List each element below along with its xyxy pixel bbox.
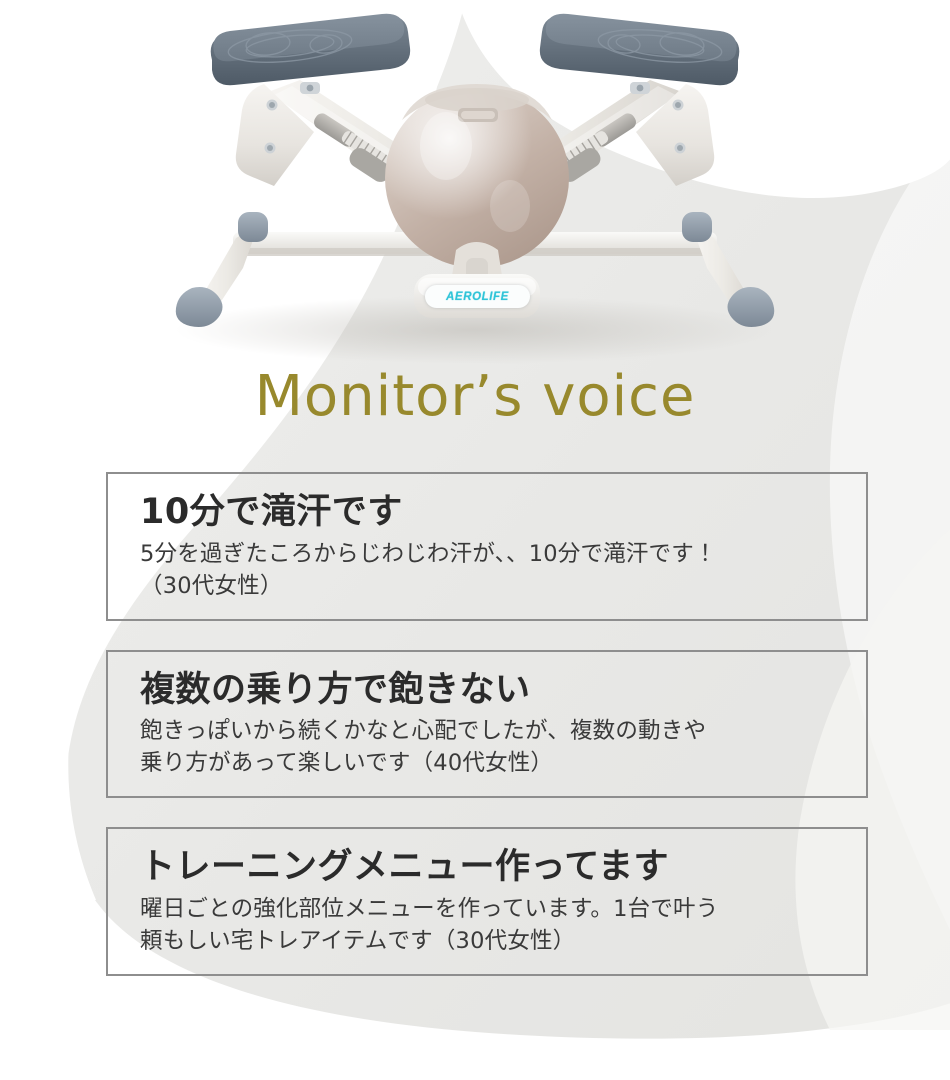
testimonial-line: 頼もしい宅トレアイテムです（30代女性） bbox=[140, 926, 838, 958]
testimonial-title: 複数の乗り方で飽きない bbox=[140, 668, 838, 713]
testimonial-line: 曜日ごとの強化部位メニューを作っています。1台で叶う bbox=[140, 894, 838, 926]
testimonial-body: 飽きっぽいから続くかなと心配でしたが、複数の動きや 乗り方があって楽しいです（4… bbox=[140, 716, 838, 780]
testimonial-line: 5分を過ぎたころからじわじわ汗が、、10分で滝汗です！ bbox=[140, 539, 838, 571]
testimonial-card-2: 複数の乗り方で飽きない 飽きっぽいから続くかなと心配でしたが、複数の動きや 乗り… bbox=[106, 650, 868, 799]
page-title: Monitor’s voice bbox=[255, 368, 696, 427]
testimonial-title: 10分で滝汗です bbox=[140, 490, 838, 535]
testimonial-line: （30代女性） bbox=[140, 571, 838, 603]
aerolife-brand-badge: AEROLIFE bbox=[425, 285, 530, 308]
testimonial-line: 飽きっぽいから続くかなと心配でしたが、複数の動きや bbox=[140, 716, 838, 748]
testimonial-list: 10分で滝汗です 5分を過ぎたころからじわじわ汗が、、10分で滝汗です！ （30… bbox=[106, 472, 868, 976]
testimonial-body: 5分を過ぎたころからじわじわ汗が、、10分で滝汗です！ （30代女性） bbox=[140, 539, 838, 603]
section-title: Monitor’s voice bbox=[0, 368, 950, 427]
testimonial-card-1: 10分で滝汗です 5分を過ぎたころからじわじわ汗が、、10分で滝汗です！ （30… bbox=[106, 472, 868, 621]
promo-page: AEROLIFE Monitor’s voice 10分で滝汗です 5分を過ぎた… bbox=[0, 0, 950, 1080]
testimonial-card-3: トレーニングメニュー作ってます 曜日ごとの強化部位メニューを作っています。1台で… bbox=[106, 827, 868, 976]
brand-label: AEROLIFE bbox=[446, 291, 509, 303]
testimonial-title: トレーニングメニュー作ってます bbox=[140, 845, 838, 890]
testimonial-body: 曜日ごとの強化部位メニューを作っています。1台で叶う 頼もしい宅トレアイテムです… bbox=[140, 894, 838, 958]
product-image bbox=[0, 0, 950, 368]
testimonial-line: 乗り方があって楽しいです（40代女性） bbox=[140, 748, 838, 780]
